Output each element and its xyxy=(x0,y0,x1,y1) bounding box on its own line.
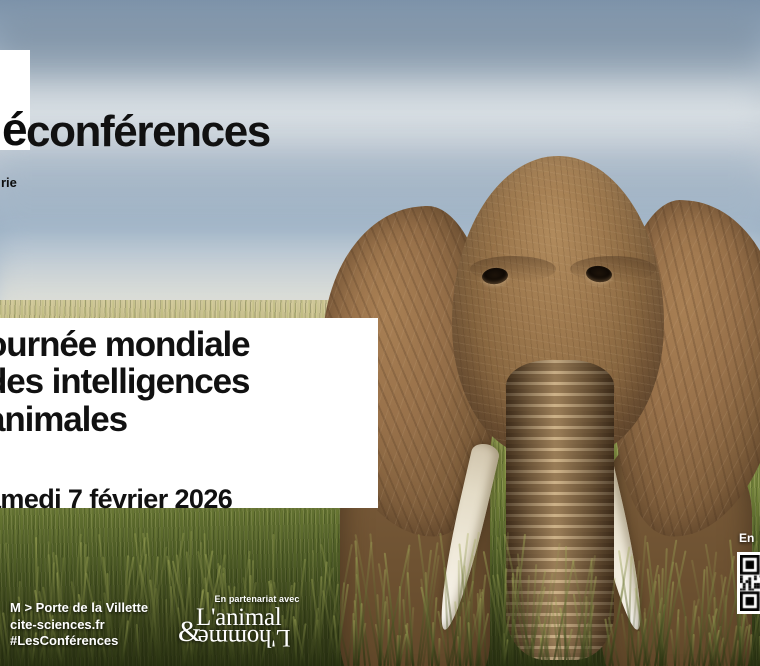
title-line-1: ournée mondiale xyxy=(0,326,396,363)
conference-poster: é rie conférences ournée mondiale des in… xyxy=(0,0,760,666)
website-url[interactable]: cite-sciences.fr xyxy=(10,617,148,634)
qr-code-icon[interactable] xyxy=(737,552,760,614)
title-line-2: des intelligences xyxy=(0,363,396,400)
series-title: conférences xyxy=(26,110,270,154)
footer-info: M > Porte de la Villette cite-sciences.f… xyxy=(10,600,148,650)
elephant-trunk xyxy=(506,360,614,660)
qr-label: En xyxy=(739,531,754,545)
hashtag: #LesConférences xyxy=(10,633,148,650)
logo-industrie-text: rie xyxy=(1,176,17,189)
logo-cite-text: é xyxy=(2,106,27,152)
title-line-3: animales xyxy=(0,401,396,438)
partner-name-bottom: L'homme xyxy=(198,625,291,650)
trunk-shading xyxy=(506,360,614,660)
partner-block: En partenariat avec & L'animal L'homme xyxy=(172,594,342,649)
metro-access: M > Porte de la Villette xyxy=(10,600,148,617)
event-date: amedi 7 février 2026 xyxy=(0,486,232,513)
event-title: ournée mondiale des intelligences animal… xyxy=(0,326,396,438)
partner-logo-animal-homme: & L'animal L'homme xyxy=(172,605,342,649)
elephant-brow-right xyxy=(570,256,656,282)
partner-label: En partenariat avec xyxy=(172,594,342,604)
qr-code-pattern xyxy=(740,555,760,611)
event-title-panel: ournée mondiale des intelligences animal… xyxy=(0,318,378,508)
